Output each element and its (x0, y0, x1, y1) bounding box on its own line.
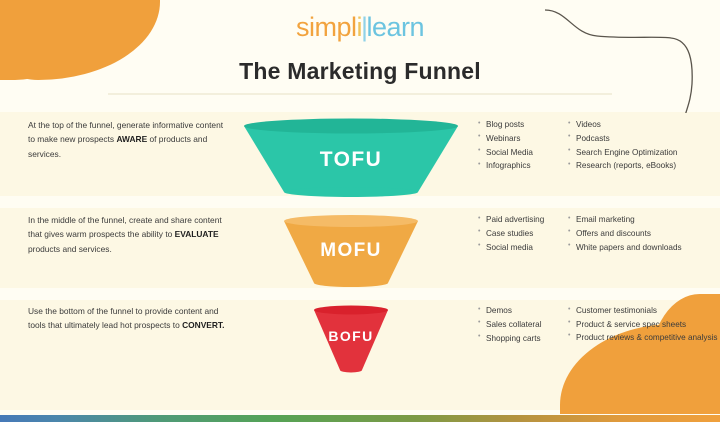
mofu-list-left: Paid advertising Case studies Social med… (478, 213, 568, 254)
title-underline (108, 93, 612, 95)
list-item: Case studies (478, 227, 568, 241)
simplilearn-logo: simpli|learn (0, 14, 720, 41)
tofu-list-right: Videos Podcasts Search Engine Optimizati… (568, 118, 718, 173)
list-item: Offers and discounts (568, 227, 718, 241)
list-item: Research (reports, eBooks) (568, 159, 718, 173)
stage-row-mofu: In the middle of the funnel, create and … (0, 213, 720, 256)
list-item: Email marketing (568, 213, 718, 227)
marketing-funnel-infographic: simpli|learn The Marketing Funnel At the… (0, 0, 720, 422)
desc-bold-mofu: EVALUATE (175, 229, 219, 239)
stage-row-bofu: Use the bottom of the funnel to provide … (0, 304, 720, 345)
list-item: Sales collateral (478, 318, 568, 332)
footer-gradient-strip (0, 415, 720, 422)
stage-description-bofu: Use the bottom of the funnel to provide … (0, 304, 232, 333)
page-title: The Marketing Funnel (0, 58, 720, 85)
list-item: Social media (478, 241, 568, 255)
tofu-list-left: Blog posts Webinars Social Media Infogra… (478, 118, 568, 173)
list-item: Search Engine Optimization (568, 146, 718, 160)
list-item: Podcasts (568, 132, 718, 146)
list-item: White papers and downloads (568, 241, 718, 255)
mofu-list-right: Email marketing Offers and discounts Whi… (568, 213, 718, 254)
list-item: Videos (568, 118, 718, 132)
stage-content-list-tofu: Blog posts Webinars Social Media Infogra… (470, 118, 720, 173)
funnel-label-bofu: BOFU (232, 328, 470, 344)
list-item: Blog posts (478, 118, 568, 132)
list-item: Product reviews & competitive analysis (568, 332, 718, 344)
stage-row-tofu: At the top of the funnel, generate infor… (0, 118, 720, 173)
stage-content-list-bofu: Demos Sales collateral Shopping carts Cu… (470, 304, 720, 345)
bofu-list-right: Customer testimonials Product & service … (568, 304, 718, 345)
desc-bold-bofu: CONVERT. (182, 320, 224, 330)
list-item: Infographics (478, 159, 568, 173)
stage-description-tofu: At the top of the funnel, generate infor… (0, 118, 232, 161)
desc-bold-tofu: AWARE (116, 134, 147, 144)
list-item: Webinars (478, 132, 568, 146)
stage-content-list-mofu: Paid advertising Case studies Social med… (470, 213, 720, 254)
desc-post-mofu: products and services. (28, 244, 112, 254)
bofu-list-left: Demos Sales collateral Shopping carts (478, 304, 568, 345)
funnel-label-tofu: TOFU (232, 148, 470, 172)
funnel-label-mofu: MOFU (232, 240, 470, 262)
logo-text-secondary: learn (366, 12, 424, 42)
list-item: Demos (478, 304, 568, 318)
list-item: Social Media (478, 146, 568, 160)
footer-band (0, 382, 720, 410)
logo-text-primary: simpl (296, 12, 357, 42)
list-item: Paid advertising (478, 213, 568, 227)
list-item: Product & service spec sheets (568, 318, 718, 332)
list-item: Customer testimonials (568, 304, 718, 318)
list-item: Shopping carts (478, 332, 568, 346)
stage-description-mofu: In the middle of the funnel, create and … (0, 213, 232, 256)
